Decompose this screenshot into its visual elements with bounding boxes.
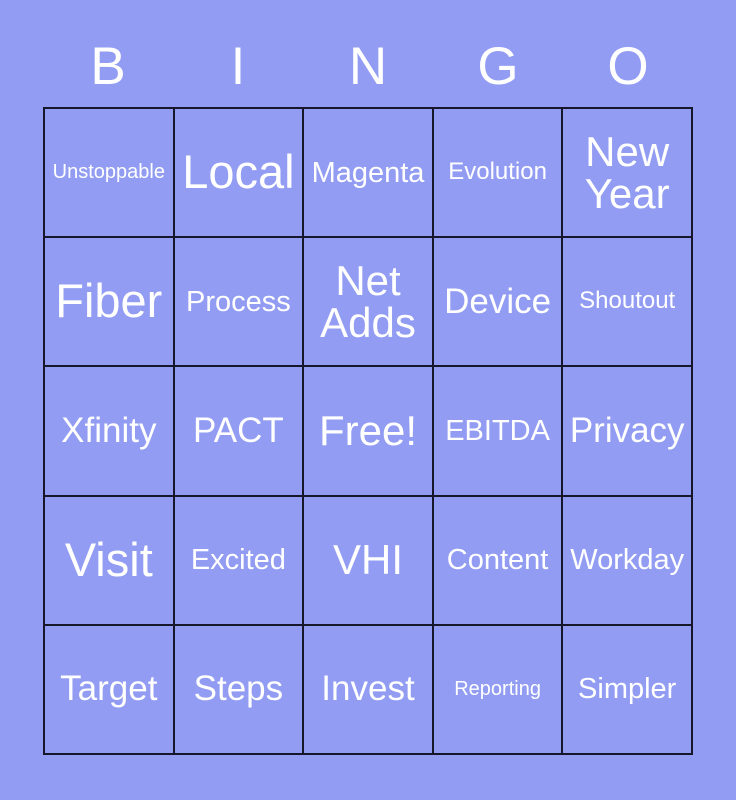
bingo-cell-label: Free! xyxy=(304,409,432,453)
bingo-cell-label: Invest xyxy=(304,671,432,707)
bingo-cell[interactable]: Local xyxy=(175,109,305,238)
header-letter-i: I xyxy=(173,33,303,99)
header-letter-n: N xyxy=(303,33,433,99)
bingo-cell[interactable]: PACT xyxy=(175,367,305,496)
bingo-cell[interactable]: Unstoppable xyxy=(45,109,175,238)
bingo-cell-label: Simpler xyxy=(563,674,691,704)
bingo-grid: UnstoppableLocalMagentaEvolutionNew Year… xyxy=(43,107,693,755)
bingo-cell-label: Content xyxy=(434,545,562,575)
bingo-cell[interactable]: Simpler xyxy=(563,626,693,755)
bingo-cell[interactable]: Device xyxy=(434,238,564,367)
bingo-cell[interactable]: Magenta xyxy=(304,109,434,238)
bingo-cell-label: Process xyxy=(175,287,303,317)
bingo-cell-label: Shoutout xyxy=(563,289,691,314)
bingo-cell[interactable]: EBITDA xyxy=(434,367,564,496)
bingo-cell-label: Unstoppable xyxy=(45,162,173,183)
header-letter-b: B xyxy=(43,33,173,99)
bingo-cell[interactable]: Privacy xyxy=(563,367,693,496)
bingo-cell-label: Target xyxy=(45,671,173,707)
bingo-cell-label: Evolution xyxy=(434,160,562,185)
bingo-cell[interactable]: Process xyxy=(175,238,305,367)
bingo-cell-label: Privacy xyxy=(563,413,691,449)
bingo-cell[interactable]: Excited xyxy=(175,497,305,626)
header-letter-g: G xyxy=(433,33,563,99)
bingo-cell-label: EBITDA xyxy=(434,416,562,446)
bingo-cell[interactable]: New Year xyxy=(563,109,693,238)
bingo-card: B I N G O UnstoppableLocalMagentaEvoluti… xyxy=(0,0,736,800)
bingo-cell[interactable]: Content xyxy=(434,497,564,626)
bingo-cell-label: Magenta xyxy=(304,158,432,188)
bingo-cell-label: VHI xyxy=(304,538,432,582)
bingo-cell-label: Device xyxy=(434,284,562,320)
bingo-cell[interactable]: Fiber xyxy=(45,238,175,367)
bingo-cell-label: Local xyxy=(175,148,303,197)
bingo-cell-label: Net Adds xyxy=(304,260,432,344)
bingo-cell-label: Excited xyxy=(175,545,303,575)
bingo-header: B I N G O xyxy=(43,33,693,99)
bingo-cell[interactable]: Target xyxy=(45,626,175,755)
bingo-cell[interactable]: Xfinity xyxy=(45,367,175,496)
bingo-cell-label: Fiber xyxy=(45,277,173,326)
bingo-cell[interactable]: Steps xyxy=(175,626,305,755)
bingo-cell-label: Visit xyxy=(45,536,173,585)
bingo-cell-label: PACT xyxy=(175,413,303,449)
bingo-cell[interactable]: Invest xyxy=(304,626,434,755)
bingo-cell[interactable]: Workday xyxy=(563,497,693,626)
bingo-cell-label: Reporting xyxy=(434,679,562,700)
bingo-cell-label: Steps xyxy=(175,671,303,707)
bingo-cell[interactable]: Shoutout xyxy=(563,238,693,367)
bingo-cell[interactable]: Free! xyxy=(304,367,434,496)
bingo-cell-label: Workday xyxy=(563,545,691,575)
bingo-cell[interactable]: Reporting xyxy=(434,626,564,755)
bingo-cell[interactable]: Net Adds xyxy=(304,238,434,367)
bingo-cell[interactable]: VHI xyxy=(304,497,434,626)
bingo-cell[interactable]: Visit xyxy=(45,497,175,626)
bingo-cell-label: New Year xyxy=(563,131,691,215)
bingo-cell[interactable]: Evolution xyxy=(434,109,564,238)
bingo-cell-label: Xfinity xyxy=(45,413,173,449)
header-letter-o: O xyxy=(563,33,693,99)
